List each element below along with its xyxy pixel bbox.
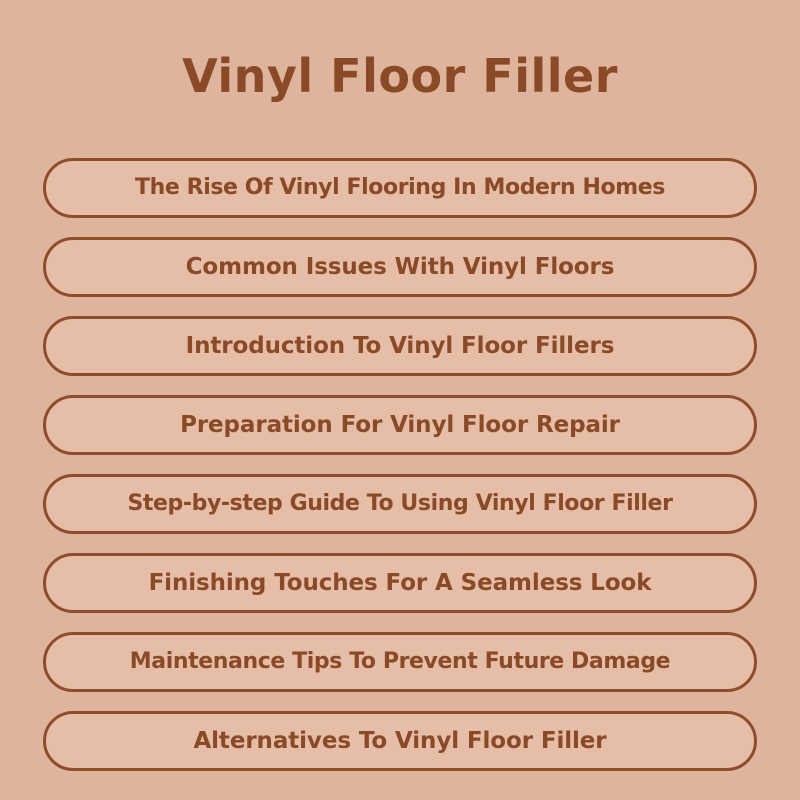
poster-root: Vinyl Floor Filler The Rise Of Vinyl Flo… <box>0 0 800 800</box>
toc-item-label: Finishing Touches For A Seamless Look <box>149 572 652 595</box>
list-item[interactable]: Common Issues With Vinyl Floors <box>43 237 757 297</box>
toc-item-label: Common Issues With Vinyl Floors <box>186 256 615 279</box>
list-item[interactable]: Finishing Touches For A Seamless Look <box>43 553 757 613</box>
list-item[interactable]: Maintenance Tips To Prevent Future Damag… <box>43 632 757 692</box>
toc-item-label: Maintenance Tips To Prevent Future Damag… <box>130 651 670 673</box>
toc-item-label: The Rise Of Vinyl Flooring In Modern Hom… <box>135 177 665 199</box>
toc-item-label: Alternatives To Vinyl Floor Filler <box>193 730 606 753</box>
list-item[interactable]: The Rise Of Vinyl Flooring In Modern Hom… <box>43 158 757 218</box>
toc-item-label: Introduction To Vinyl Floor Fillers <box>186 335 615 358</box>
list-item[interactable]: Introduction To Vinyl Floor Fillers <box>43 316 757 376</box>
table-of-contents-list: The Rise Of Vinyl Flooring In Modern Hom… <box>43 158 757 771</box>
list-item[interactable]: Alternatives To Vinyl Floor Filler <box>43 711 757 771</box>
toc-item-label: Preparation For Vinyl Floor Repair <box>180 414 620 437</box>
list-item[interactable]: Step-by-step Guide To Using Vinyl Floor … <box>43 474 757 534</box>
list-item[interactable]: Preparation For Vinyl Floor Repair <box>43 395 757 455</box>
page-title: Vinyl Floor Filler <box>0 0 800 158</box>
toc-item-label: Step-by-step Guide To Using Vinyl Floor … <box>127 493 672 515</box>
